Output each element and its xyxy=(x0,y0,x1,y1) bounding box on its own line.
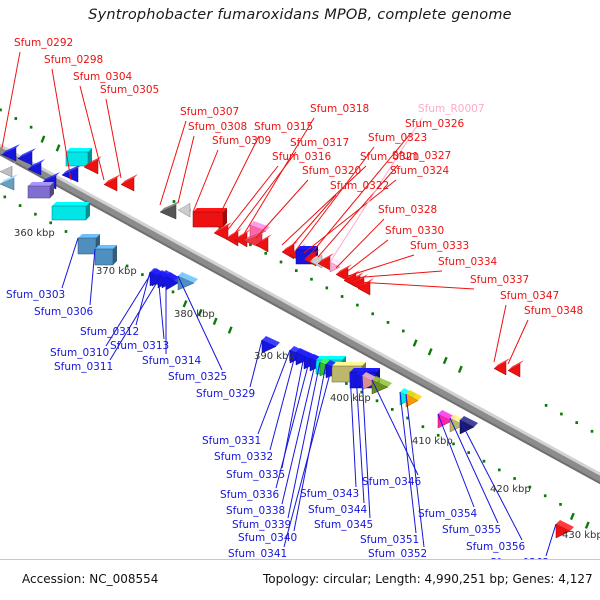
gc-tick-mark xyxy=(391,408,394,411)
gene-glyph[interactable] xyxy=(178,199,194,217)
gene-label[interactable]: Sfum_0322 xyxy=(330,181,389,192)
label-leader-line xyxy=(52,69,71,180)
label-leader-line xyxy=(350,372,356,487)
gene-label[interactable]: Sfum_0307 xyxy=(180,107,239,118)
gene-box-top-face xyxy=(316,356,346,360)
gene-box-front-face[interactable] xyxy=(66,152,88,166)
gene-label[interactable]: Sfum_0334 xyxy=(438,257,497,268)
gene-label[interactable]: Sfum_0351 xyxy=(360,535,419,546)
label-leader-line xyxy=(2,52,20,148)
gene-label[interactable]: Sfum_0323 xyxy=(368,133,427,144)
gene-label[interactable]: Sfum_0325 xyxy=(168,372,227,383)
scale-label: 360 kbp xyxy=(14,228,55,239)
gene-glyph[interactable] xyxy=(52,202,90,220)
label-leader-line xyxy=(358,282,474,289)
gene-label[interactable]: Sfum_0332 xyxy=(214,452,273,463)
label-leader-line xyxy=(546,524,556,556)
label-leader-line xyxy=(494,305,506,362)
gene-label[interactable]: Sfum_0306 xyxy=(34,307,93,318)
genome-map-canvas[interactable]: Sfum_0292Sfum_0298Sfum_0304Sfum_0305Sfum… xyxy=(0,0,600,560)
gc-tick-mark xyxy=(591,430,594,433)
gene-label[interactable]: Sfum_0340 xyxy=(238,533,297,544)
gene-glyph[interactable] xyxy=(0,162,16,177)
gene-box-front-face[interactable] xyxy=(193,212,223,227)
gene-label[interactable]: Sfum_0316 xyxy=(272,152,331,163)
label-leader-line xyxy=(62,238,78,288)
gc-tick-mark xyxy=(49,221,52,224)
label-leader-line xyxy=(282,166,366,245)
gene-label[interactable]: Sfum_0305 xyxy=(100,85,159,96)
gc-tick-mark xyxy=(264,252,267,255)
gc-tick-mark xyxy=(19,204,22,207)
gc-tick-mark xyxy=(4,196,7,199)
scale-label: 410 kbp xyxy=(412,436,453,447)
label-leader-line xyxy=(460,420,522,540)
label-leader-line xyxy=(256,180,308,238)
gene-glyph[interactable] xyxy=(95,245,117,265)
gc-tick-mark xyxy=(513,477,516,480)
gene-label[interactable]: Sfum_R0007 xyxy=(418,104,485,115)
label-leader-line xyxy=(508,320,528,364)
gene-label[interactable]: Sfum_0348 xyxy=(524,306,583,317)
label-leader-line xyxy=(348,255,414,276)
gene-label[interactable]: Sfum_0310 xyxy=(50,348,109,359)
gene-glyph[interactable] xyxy=(494,358,510,375)
gene-glyph[interactable] xyxy=(104,174,121,191)
gene-label[interactable]: Sfum_0346 xyxy=(362,477,421,488)
gene-label[interactable]: Sfum_0333 xyxy=(410,241,469,252)
genome-browser-view: Syntrophobacter fumaroxidans MPOB, compl… xyxy=(0,0,600,600)
gc-tick-mark xyxy=(467,451,470,454)
gc-tick-mark xyxy=(402,330,405,333)
gc-tick-mark xyxy=(65,230,68,233)
gene-label[interactable]: Sfum_0303 xyxy=(6,290,65,301)
label-leader-line xyxy=(235,152,296,233)
gc-tick-mark xyxy=(575,421,578,424)
gc-tick-mark xyxy=(498,469,501,472)
gene-label[interactable]: Sfum_0315 xyxy=(254,122,313,133)
label-leader-line xyxy=(270,352,296,450)
gc-tick-mark xyxy=(483,460,486,463)
gene-label[interactable]: Sfum_0327 xyxy=(392,151,451,162)
gene-label[interactable]: Sfum_0320 xyxy=(302,166,361,177)
gene-label[interactable]: Sfum_0311 xyxy=(54,362,113,373)
gc-tick-mark xyxy=(173,200,176,203)
gc-tick-mark xyxy=(413,339,418,346)
label-leader-line xyxy=(250,340,262,387)
gene-label[interactable]: Sfum_0335 xyxy=(226,470,285,481)
gene-box-front-face[interactable] xyxy=(78,238,96,254)
gene-label[interactable]: Sfum_0328 xyxy=(378,205,437,216)
gene-glyph[interactable] xyxy=(508,360,524,377)
gc-tick-mark xyxy=(422,425,425,428)
gene-box-top-face xyxy=(52,202,90,206)
label-leader-line xyxy=(336,219,384,268)
gene-box-top-face xyxy=(350,368,380,372)
label-leader-line xyxy=(344,240,388,274)
gene-glyph[interactable] xyxy=(406,390,422,407)
gene-label[interactable]: Sfum_0339 xyxy=(232,520,291,531)
gc-tick-mark xyxy=(376,399,379,402)
gene-label[interactable]: Sfum_0338 xyxy=(226,506,285,517)
gene-label[interactable]: Sfum_0345 xyxy=(314,520,373,531)
gene-label[interactable]: Sfum_0314 xyxy=(142,356,201,367)
gene-glyph[interactable] xyxy=(178,272,198,290)
label-leader-line xyxy=(214,136,259,226)
scale-label: 430 kbp xyxy=(562,530,600,541)
gene-label[interactable]: Sfum_0313 xyxy=(110,341,169,352)
gene-label[interactable]: Sfum_0308 xyxy=(188,122,247,133)
gc-tick-mark xyxy=(356,304,359,307)
scale-label: 380 kbp xyxy=(174,309,215,320)
gene-box-top-face xyxy=(66,148,92,152)
gene-label[interactable]: Sfum_0347 xyxy=(500,291,559,302)
gc-tick-mark xyxy=(443,357,448,364)
label-leader-line xyxy=(178,136,194,203)
label-leader-line xyxy=(290,195,336,248)
gene-glyph[interactable] xyxy=(28,182,54,198)
gene-label[interactable]: Sfum_0354 xyxy=(418,509,477,520)
gc-tick-mark xyxy=(345,382,348,385)
gene-label[interactable]: Sfum_0337 xyxy=(470,275,529,286)
gc-tick-mark xyxy=(34,213,37,216)
label-leader-line xyxy=(193,150,218,212)
gc-tick-mark xyxy=(560,413,563,416)
gc-tick-mark xyxy=(15,117,18,120)
gene-label[interactable]: Sfum_0304 xyxy=(73,72,132,83)
gene-label[interactable]: Sfum_0318 xyxy=(310,104,369,115)
gene-label[interactable]: Sfum_0326 xyxy=(405,119,464,130)
gene-label[interactable]: Sfum_0344 xyxy=(308,505,367,516)
gc-tick-mark xyxy=(183,300,188,307)
gene-glyph[interactable] xyxy=(62,164,82,182)
gc-tick-mark xyxy=(387,321,390,324)
gene-label[interactable]: Sfum_0355 xyxy=(442,525,501,536)
gc-tick-mark xyxy=(310,278,313,281)
gene-box-front-face[interactable] xyxy=(52,206,86,220)
gc-tick-mark xyxy=(341,295,344,298)
gene-label[interactable]: Sfum_0356 xyxy=(466,542,525,553)
gene-glyph[interactable] xyxy=(160,201,180,219)
gene-box-front-face[interactable] xyxy=(28,186,50,198)
label-leader-line xyxy=(106,99,121,178)
gc-tick-mark xyxy=(228,326,233,333)
gene-label[interactable]: Sfum_0330 xyxy=(385,226,444,237)
gene-label[interactable]: Sfum_0312 xyxy=(80,327,139,338)
scale-label: 370 kbp xyxy=(96,266,137,277)
gene-glyph[interactable] xyxy=(121,174,138,191)
status-bar: Accession: NC_008554 Topology: circular;… xyxy=(0,559,600,600)
gc-tick-mark xyxy=(585,521,590,528)
gc-tick-mark xyxy=(458,366,463,373)
gene-label[interactable]: Sfum_0309 xyxy=(212,136,271,147)
gc-tick-mark xyxy=(30,126,33,129)
gc-tick-mark xyxy=(545,404,548,407)
accession-label: Accession: NC_008554 xyxy=(22,572,158,586)
label-leader-line xyxy=(136,272,150,325)
gc-tick-mark xyxy=(280,261,283,264)
gc-tick-mark xyxy=(172,291,175,294)
gene-label[interactable]: Sfum_0317 xyxy=(290,138,349,149)
gene-label[interactable]: Sfum_0331 xyxy=(202,436,261,447)
gene-label[interactable]: Sfum_0292 xyxy=(14,38,73,49)
label-leader-line xyxy=(90,249,95,305)
gc-tick-mark xyxy=(0,109,2,112)
scale-label: 400 kbp xyxy=(330,393,371,404)
label-leader-line xyxy=(352,271,442,278)
scale-label: 390 kbp xyxy=(254,351,295,362)
gene-glyph[interactable] xyxy=(0,174,18,190)
gc-tick-mark xyxy=(41,135,46,142)
scale-label: 420 kbp xyxy=(490,484,531,495)
gene-label[interactable]: Sfum_0343 xyxy=(300,489,359,500)
gc-tick-mark xyxy=(141,273,144,276)
gene-label[interactable]: Sfum_0336 xyxy=(220,490,279,501)
gc-tick-mark xyxy=(570,513,575,520)
gc-tick-mark xyxy=(544,494,547,497)
gene-box-top-face xyxy=(28,182,54,186)
gc-tick-mark xyxy=(56,144,61,151)
gene-box-top-face xyxy=(332,362,366,366)
gene-label[interactable]: Sfum_0298 xyxy=(44,55,103,66)
gene-box-front-face[interactable] xyxy=(95,249,113,265)
gc-tick-mark xyxy=(295,269,298,272)
gc-tick-mark xyxy=(428,348,433,355)
gc-tick-mark xyxy=(326,287,329,290)
label-leader-line xyxy=(160,121,186,205)
gc-tick-mark xyxy=(559,503,562,506)
gene-label[interactable]: Sfum_0324 xyxy=(390,166,449,177)
gc-tick-mark xyxy=(371,312,374,315)
topology-label: Topology: circular; Length: 4,990,251 bp… xyxy=(263,572,593,586)
gene-label[interactable]: Sfum_0329 xyxy=(196,389,255,400)
gene-glyph[interactable] xyxy=(372,376,392,394)
